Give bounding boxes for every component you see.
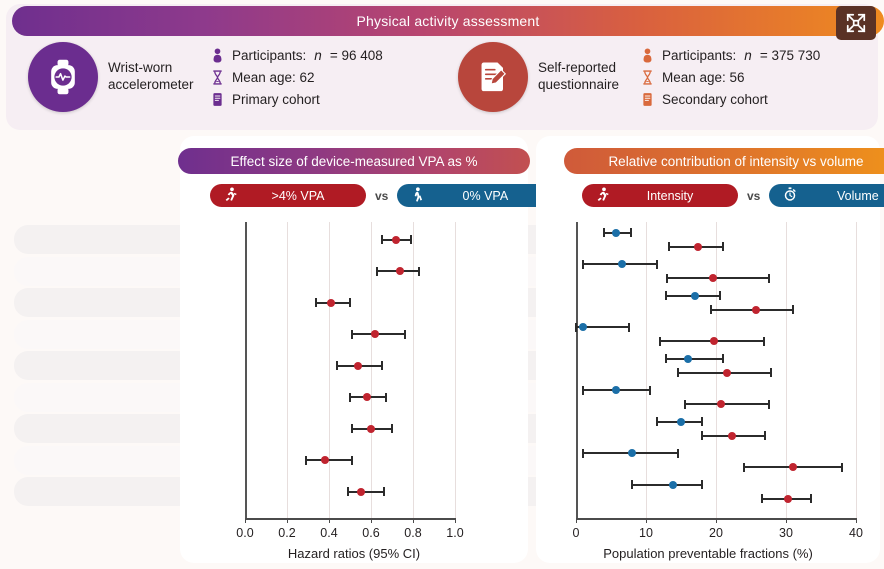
- gridline: [716, 222, 717, 518]
- data-point: [684, 355, 692, 363]
- ci-cap: [418, 267, 420, 276]
- plot-hazard-ratios: 0.00.20.40.60.81.0Hazard ratios (95% CI): [180, 136, 528, 563]
- cohort-primary: Wrist-worn accelerometer Participants: n…: [28, 42, 383, 112]
- smartwatch-icon: [28, 42, 98, 112]
- x-tick-label: 0.2: [278, 526, 295, 540]
- data-point: [717, 400, 725, 408]
- ci-cap: [410, 235, 412, 244]
- ci-cap: [649, 386, 651, 395]
- cohort-facts: Participants: n = 96 408 Mean age: 62 Pr…: [210, 48, 383, 107]
- x-tick: [716, 518, 717, 523]
- fact-value: = 375 730: [760, 48, 820, 63]
- gridline: [786, 222, 787, 518]
- panel-preventable-fractions: Relative contribution of intensity vs vo…: [536, 136, 880, 563]
- ci-cap: [761, 494, 763, 503]
- ci-cap: [404, 330, 406, 339]
- ci-cap: [656, 260, 658, 269]
- confidence-interval: [685, 403, 769, 405]
- fact-label: Secondary cohort: [662, 92, 768, 107]
- ci-cap: [668, 242, 670, 251]
- fact-cohort-type: Primary cohort: [210, 92, 383, 107]
- ci-cap: [763, 337, 765, 346]
- ci-cap: [582, 386, 584, 395]
- ci-cap: [381, 361, 383, 370]
- ci-cap: [582, 260, 584, 269]
- ci-cap: [722, 354, 724, 363]
- ci-cap: [351, 456, 353, 465]
- data-point: [357, 488, 365, 496]
- ci-cap: [666, 274, 668, 283]
- fact-stat-symbol: n: [744, 48, 752, 63]
- expand-arrows-icon[interactable]: [836, 6, 876, 40]
- data-point: [669, 481, 677, 489]
- gridline: [455, 222, 456, 518]
- ci-cap: [764, 431, 766, 440]
- data-point: [677, 418, 685, 426]
- person-icon: [640, 48, 654, 63]
- ci-cap: [719, 291, 721, 300]
- hourglass-icon: [640, 70, 654, 85]
- fact-value: = 96 408: [330, 48, 383, 63]
- fact-stat-symbol: n: [314, 48, 322, 63]
- gridline: [856, 222, 857, 518]
- fact-participants: Participants: n = 375 730: [640, 48, 820, 63]
- reference-line: [576, 222, 578, 518]
- x-axis-title: Population preventable fractions (%): [536, 546, 880, 561]
- data-point: [396, 267, 404, 275]
- ci-cap: [656, 417, 658, 426]
- ci-cap: [684, 400, 686, 409]
- data-point: [612, 386, 620, 394]
- fact-mean-age: Mean age: 62: [210, 70, 383, 85]
- book-icon: [210, 92, 224, 107]
- x-tick: [576, 518, 577, 523]
- ci-cap: [349, 393, 351, 402]
- header-card: Physical activity assessment: [6, 4, 878, 130]
- ci-cap: [351, 424, 353, 433]
- x-tick-label: 10: [639, 526, 653, 540]
- confidence-interval: [306, 459, 352, 461]
- ci-cap: [792, 305, 794, 314]
- ci-cap: [768, 400, 770, 409]
- gridline: [287, 222, 288, 518]
- data-point: [628, 449, 636, 457]
- ci-cap: [630, 228, 632, 237]
- plot-preventable-fractions: 010203040Population preventable fraction…: [536, 136, 880, 563]
- ci-cap: [347, 487, 349, 496]
- x-tick: [287, 518, 288, 523]
- x-tick: [856, 518, 857, 523]
- data-point: [371, 330, 379, 338]
- ci-cap: [665, 291, 667, 300]
- book-icon: [640, 92, 654, 107]
- x-axis: [245, 518, 455, 520]
- x-tick-label: 20: [709, 526, 723, 540]
- ci-cap: [631, 480, 633, 489]
- fact-label: Mean age: 56: [662, 70, 745, 85]
- gridline: [371, 222, 372, 518]
- cohort-secondary: Self-reported questionnaire Participants…: [458, 42, 820, 112]
- data-point: [612, 229, 620, 237]
- ci-cap: [841, 463, 843, 472]
- data-point: [789, 463, 797, 471]
- data-point: [354, 362, 362, 370]
- ci-cap: [810, 494, 812, 503]
- x-tick: [329, 518, 330, 523]
- confidence-interval: [666, 358, 723, 360]
- data-point: [618, 260, 626, 268]
- data-point: [784, 495, 792, 503]
- fact-label: Participants:: [662, 48, 736, 63]
- ci-cap: [628, 323, 630, 332]
- cohort-name: Wrist-worn accelerometer: [108, 60, 192, 94]
- fact-label: Participants:: [232, 48, 306, 63]
- data-point: [709, 274, 717, 282]
- reference-line: [245, 222, 247, 518]
- confidence-interval: [667, 277, 769, 279]
- ci-cap: [677, 368, 679, 377]
- x-tick: [413, 518, 414, 523]
- ci-cap: [305, 456, 307, 465]
- fact-cohort-type: Secondary cohort: [640, 92, 820, 107]
- fact-participants: Participants: n = 96 408: [210, 48, 383, 63]
- ci-cap: [603, 228, 605, 237]
- confidence-interval: [632, 484, 702, 486]
- ci-cap: [659, 337, 661, 346]
- x-tick-label: 0.0: [236, 526, 253, 540]
- fact-mean-age: Mean age: 56: [640, 70, 820, 85]
- x-tick-label: 40: [849, 526, 863, 540]
- ci-cap: [582, 449, 584, 458]
- ci-cap: [391, 424, 393, 433]
- fact-label: Primary cohort: [232, 92, 320, 107]
- x-axis-title: Hazard ratios (95% CI): [180, 546, 528, 561]
- panel-hazard-ratios: Effect size of device-measured VPA as % …: [180, 136, 528, 563]
- x-tick: [786, 518, 787, 523]
- ci-cap: [376, 267, 378, 276]
- ci-cap: [381, 235, 383, 244]
- ci-cap: [768, 274, 770, 283]
- confidence-interval: [348, 491, 384, 493]
- data-point: [728, 432, 736, 440]
- data-point: [363, 393, 371, 401]
- ci-cap: [315, 298, 317, 307]
- ci-cap: [351, 330, 353, 339]
- ci-cap: [710, 305, 712, 314]
- x-tick: [646, 518, 647, 523]
- figure-root: Physical activity assessment: [0, 0, 884, 569]
- ci-cap: [701, 431, 703, 440]
- x-tick-label: 30: [779, 526, 793, 540]
- gridline: [329, 222, 330, 518]
- cohort-facts: Participants: n = 375 730 Mean age: 56 S…: [640, 48, 820, 107]
- x-tick-label: 0.6: [362, 526, 379, 540]
- header-title-bar: Physical activity assessment: [12, 6, 884, 36]
- person-icon: [210, 48, 224, 63]
- questionnaire-icon: [458, 42, 528, 112]
- ci-cap: [743, 463, 745, 472]
- x-tick: [245, 518, 246, 523]
- ci-cap: [770, 368, 772, 377]
- ci-cap: [336, 361, 338, 370]
- data-point: [367, 425, 375, 433]
- data-point: [723, 369, 731, 377]
- ci-cap: [677, 449, 679, 458]
- data-point: [392, 236, 400, 244]
- ci-cap: [701, 480, 703, 489]
- x-tick-label: 0: [573, 526, 580, 540]
- cohort-name: Self-reported questionnaire: [538, 60, 622, 94]
- ci-cap: [349, 298, 351, 307]
- x-tick: [371, 518, 372, 523]
- data-point: [691, 292, 699, 300]
- data-point: [694, 243, 702, 251]
- ci-cap: [701, 417, 703, 426]
- ci-cap: [383, 487, 385, 496]
- x-tick-label: 0.8: [404, 526, 421, 540]
- fact-label: Mean age: 62: [232, 70, 315, 85]
- x-tick-label: 1.0: [446, 526, 463, 540]
- page-title: Physical activity assessment: [357, 13, 540, 29]
- gridline: [646, 222, 647, 518]
- data-point: [752, 306, 760, 314]
- data-point: [327, 299, 335, 307]
- data-point: [579, 323, 587, 331]
- data-point: [321, 456, 329, 464]
- ci-cap: [665, 354, 667, 363]
- ci-cap: [575, 323, 577, 332]
- x-tick-label: 0.4: [320, 526, 337, 540]
- ci-cap: [722, 242, 724, 251]
- hourglass-icon: [210, 70, 224, 85]
- gridline: [413, 222, 414, 518]
- x-tick: [455, 518, 456, 523]
- ci-cap: [385, 393, 387, 402]
